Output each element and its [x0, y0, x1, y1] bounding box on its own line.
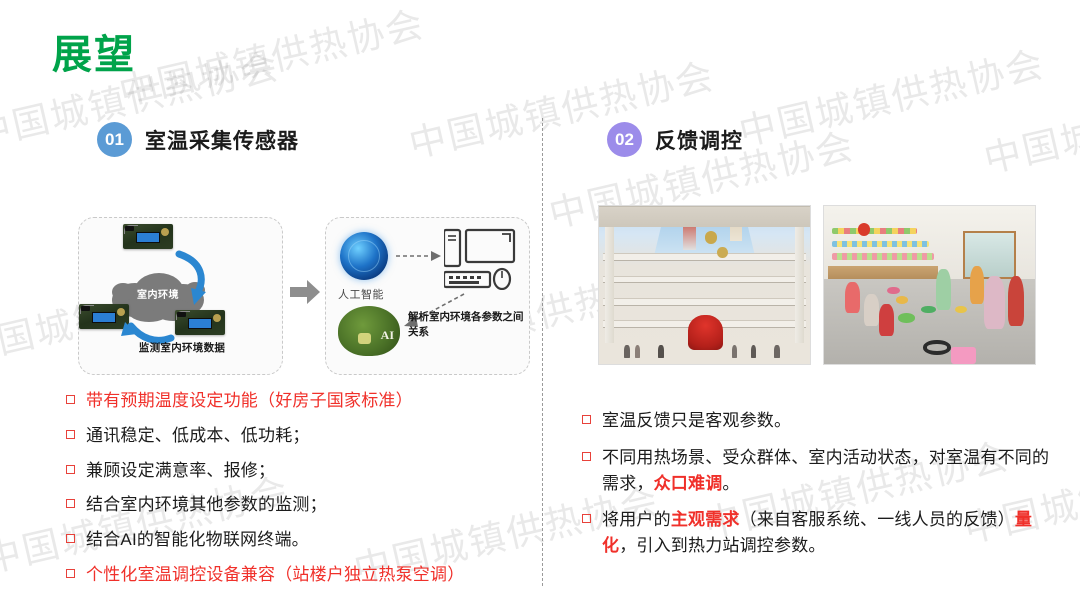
plain-text: 兼顾设定满意率、报修；: [86, 461, 275, 480]
shopping-mall-atrium-photo: [598, 205, 811, 365]
plain-text: 室温反馈只是客观参数。: [602, 411, 791, 430]
bullet-square-icon: [66, 534, 75, 543]
highlight-text: 众口难调: [654, 474, 723, 493]
section-title-01: 室温采集传感器: [145, 125, 299, 155]
bullet-item: 室温反馈只是客观参数。: [582, 408, 1062, 434]
vertical-divider: [542, 118, 543, 586]
bullet-square-icon: [66, 569, 75, 578]
plain-text: ，引入到热力站调控参数。: [619, 536, 825, 555]
watermark-text: 中国城镇供热协会: [978, 61, 1080, 184]
bullet-item: 结合室内环境其他参数的监测；: [66, 492, 536, 518]
bullet-text: 通讯稳定、低成本、低功耗；: [86, 423, 310, 449]
bullet-text: 将用户的主观需求（来自客服系统、一线人员的反馈）量化，引入到热力站调控参数。: [602, 507, 1062, 559]
bullet-item: 带有预期温度设定功能（好房子国家标准）: [66, 388, 536, 414]
slide-canvas: 中国城镇供热协会中国城镇供热协会中国城镇供热协会中国城镇供热协会中国城镇供热协会…: [0, 0, 1080, 608]
bullet-square-icon: [66, 430, 75, 439]
bullet-item: 通讯稳定、低成本、低功耗；: [66, 423, 536, 449]
plain-text: 结合室内环境其他参数的监测；: [86, 495, 327, 514]
diagram-left-panel: 室内环境 监测室内环境数据: [78, 217, 283, 375]
section-title-02: 反馈调控: [655, 125, 743, 155]
plain-text: 结合AI的智能化物联网终端。: [86, 530, 309, 549]
section-header-01: 01 室温采集传感器: [97, 122, 299, 157]
photo-gallery: [598, 205, 1036, 365]
bullet-square-icon: [582, 514, 591, 523]
kindergarten-classroom-photo: [823, 205, 1036, 365]
bullet-text: 不同用热场景、受众群体、室内活动状态，对室温有不同的需求，众口难调。: [602, 445, 1062, 497]
bullet-text: 带有预期温度设定功能（好房子国家标准）: [86, 388, 413, 414]
watermark-text: 中国城镇供热协会: [113, 0, 429, 116]
bullet-square-icon: [66, 499, 75, 508]
right-arrow-icon: [290, 279, 320, 305]
section-badge-01: 01: [97, 122, 132, 157]
diagram-right-panel: 人工智能 AI 解析室内环境各参数之间关系: [325, 217, 530, 375]
highlight-text: 主观需求: [671, 510, 740, 529]
bullet-text: 个性化室温调控设备兼容（站楼户独立热泵空调）: [86, 562, 464, 588]
bullet-text: 结合室内环境其他参数的监测；: [86, 492, 327, 518]
watermark-text: 中国城镇供热协会: [733, 34, 1049, 157]
plain-text: 将用户的: [602, 510, 671, 529]
bullet-text: 兼顾设定满意率、报修；: [86, 458, 275, 484]
plain-text: 通讯稳定、低成本、低功耗；: [86, 426, 310, 445]
page-title: 展望: [52, 22, 136, 80]
section-header-02: 02 反馈调控: [607, 122, 743, 157]
plain-text: 个性化室温调控设备兼容（站楼户独立热泵空调）: [86, 565, 464, 584]
bullet-item: 将用户的主观需求（来自客服系统、一线人员的反馈）量化，引入到热力站调控参数。: [582, 507, 1062, 559]
bullet-text: 结合AI的智能化物联网终端。: [86, 527, 309, 553]
bullet-item: 不同用热场景、受众群体、室内活动状态，对室温有不同的需求，众口难调。: [582, 445, 1062, 497]
bullet-text: 室温反馈只是客观参数。: [602, 408, 791, 434]
bullet-item: 结合AI的智能化物联网终端。: [66, 527, 536, 553]
ai-label: 人工智能: [338, 286, 384, 302]
monitor-caption: 监测室内环境数据: [93, 340, 271, 355]
bullet-square-icon: [582, 452, 591, 461]
section-badge-02: 02: [607, 122, 642, 157]
bullet-list-01: 带有预期温度设定功能（好房子国家标准）通讯稳定、低成本、低功耗；兼顾设定满意率、…: [66, 388, 536, 597]
plain-text: 。: [722, 474, 739, 493]
bullet-item: 兼顾设定满意率、报修；: [66, 458, 536, 484]
bullet-square-icon: [66, 395, 75, 404]
plain-text: 带有预期温度设定功能（好房子国家标准）: [86, 391, 413, 410]
bullet-list-02: 室温反馈只是客观参数。不同用热场景、受众群体、室内活动状态，对室温有不同的需求，…: [582, 408, 1062, 570]
ai-description: 解析室内环境各参数之间关系: [408, 310, 526, 340]
plain-text: （来自客服系统、一线人员的反馈）: [740, 510, 1015, 529]
bullet-square-icon: [582, 415, 591, 424]
bullet-square-icon: [66, 465, 75, 474]
sensor-diagram: 室内环境 监测室内环境数据: [78, 217, 530, 375]
bullet-item: 个性化室温调控设备兼容（站楼户独立热泵空调）: [66, 562, 536, 588]
